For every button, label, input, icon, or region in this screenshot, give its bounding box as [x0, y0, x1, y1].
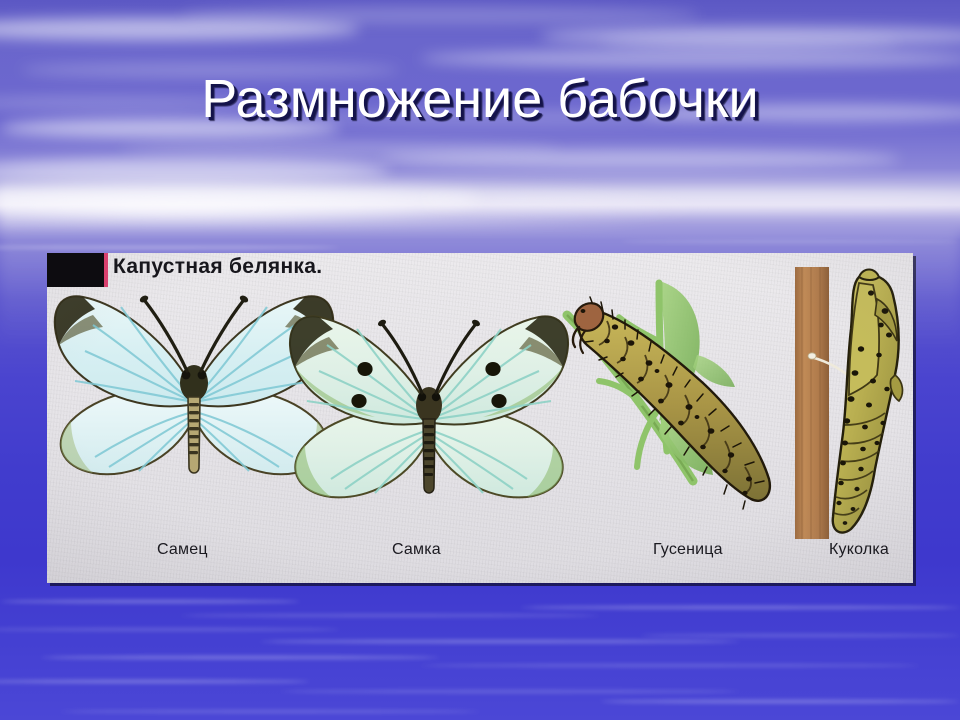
header-black-block [47, 253, 104, 287]
slide-canvas: Размножение бабочки [0, 0, 960, 720]
paper-vignette [47, 253, 913, 583]
caption-female: Самка [392, 541, 441, 559]
caption-caterpillar: Гусеница [653, 541, 723, 559]
page-title: Размножение бабочки [0, 68, 960, 130]
header-accent-stripe [104, 253, 108, 287]
figure-header-label: Капустная белянка. [113, 255, 322, 279]
figure-panel: Капустная белянка. Самец Самка Гусеница … [47, 253, 913, 583]
caption-male: Самец [157, 541, 208, 559]
caption-pupa: Куколка [829, 541, 889, 559]
